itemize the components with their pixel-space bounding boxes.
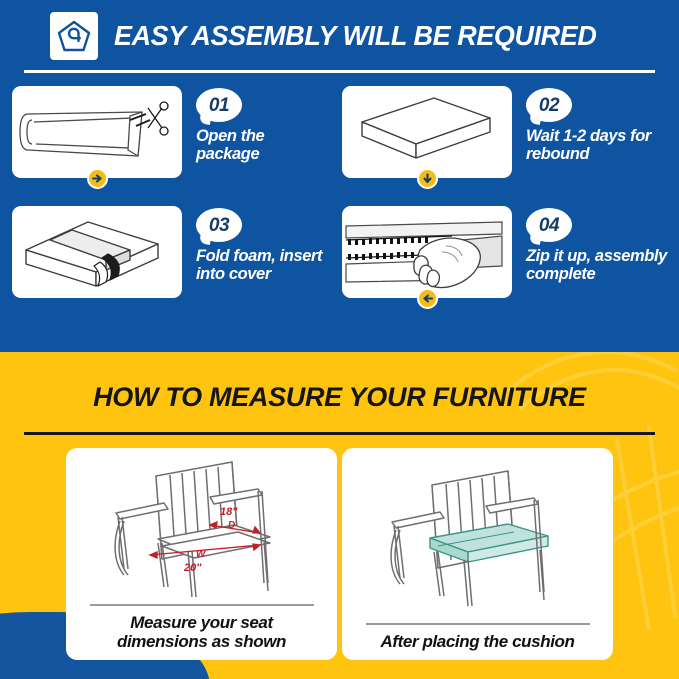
panel-caption-measure: Measure your seat dimensions as shown [111,606,292,660]
depth-value-label: 18" [220,506,238,518]
assembly-step-04[interactable]: 04 Zip it up, assembly complete [342,206,672,314]
step-03-text: 03 Fold foam, insert into cover [196,208,346,284]
width-symbol-label: W [196,549,207,560]
step-number-badge: 01 [196,88,242,124]
step-number: 04 [539,215,559,237]
step-label: Fold foam, insert into cover [196,247,346,284]
assembly-section: EASY ASSEMBLY WILL BE REQUIRED [0,0,679,352]
house-logo-icon [50,12,98,60]
step-02-text: 02 Wait 1-2 days for rebound [526,88,676,164]
chair-cushion-illustration [342,448,613,623]
step-04-illustration [342,206,512,298]
assembly-step-02[interactable]: 02 Wait 1-2 days for rebound [342,86,672,194]
measure-section-title: HOW TO MEASURE YOUR FURNITURE [0,382,679,413]
step-03-illustration [12,206,182,298]
assembly-header: EASY ASSEMBLY WILL BE REQUIRED [0,8,679,64]
step-number: 02 [539,95,559,117]
step-number-badge: 04 [526,208,572,244]
step-label: Zip it up, assembly complete [526,247,676,284]
step-02-illustration [342,86,512,178]
step-number: 01 [209,95,229,117]
arrow-left-icon [417,288,438,309]
width-value-label: 20" [183,562,202,574]
assembly-step-03[interactable]: 03 Fold foam, insert into cover [12,206,342,314]
panel-measure-seat[interactable]: 18" D W 20" Measure your seat dimensions… [66,448,337,660]
measure-title-divider [24,432,655,435]
step-label: Wait 1-2 days for rebound [526,127,676,164]
panel-after-cushion[interactable]: After placing the cushion [342,448,613,660]
step-number-badge: 02 [526,88,572,124]
assembly-step-01[interactable]: 01 Open the package [12,86,342,194]
page-title: EASY ASSEMBLY WILL BE REQUIRED [114,20,596,52]
arrow-right-icon [87,168,108,189]
arrow-down-icon [417,168,438,189]
step-number: 03 [209,215,229,237]
step-01-text: 01 Open the package [196,88,346,164]
depth-symbol-label: D [228,520,235,531]
step-04-text: 04 Zip it up, assembly complete [526,208,676,284]
chair-dimension-illustration: 18" D W 20" [66,448,337,604]
step-label: Open the package [196,127,346,164]
step-number-badge: 03 [196,208,242,244]
header-divider [24,70,655,73]
assembly-steps-grid: 01 Open the package [0,86,679,321]
step-01-illustration [12,86,182,178]
panel-caption-cushion: After placing the cushion [374,625,580,660]
